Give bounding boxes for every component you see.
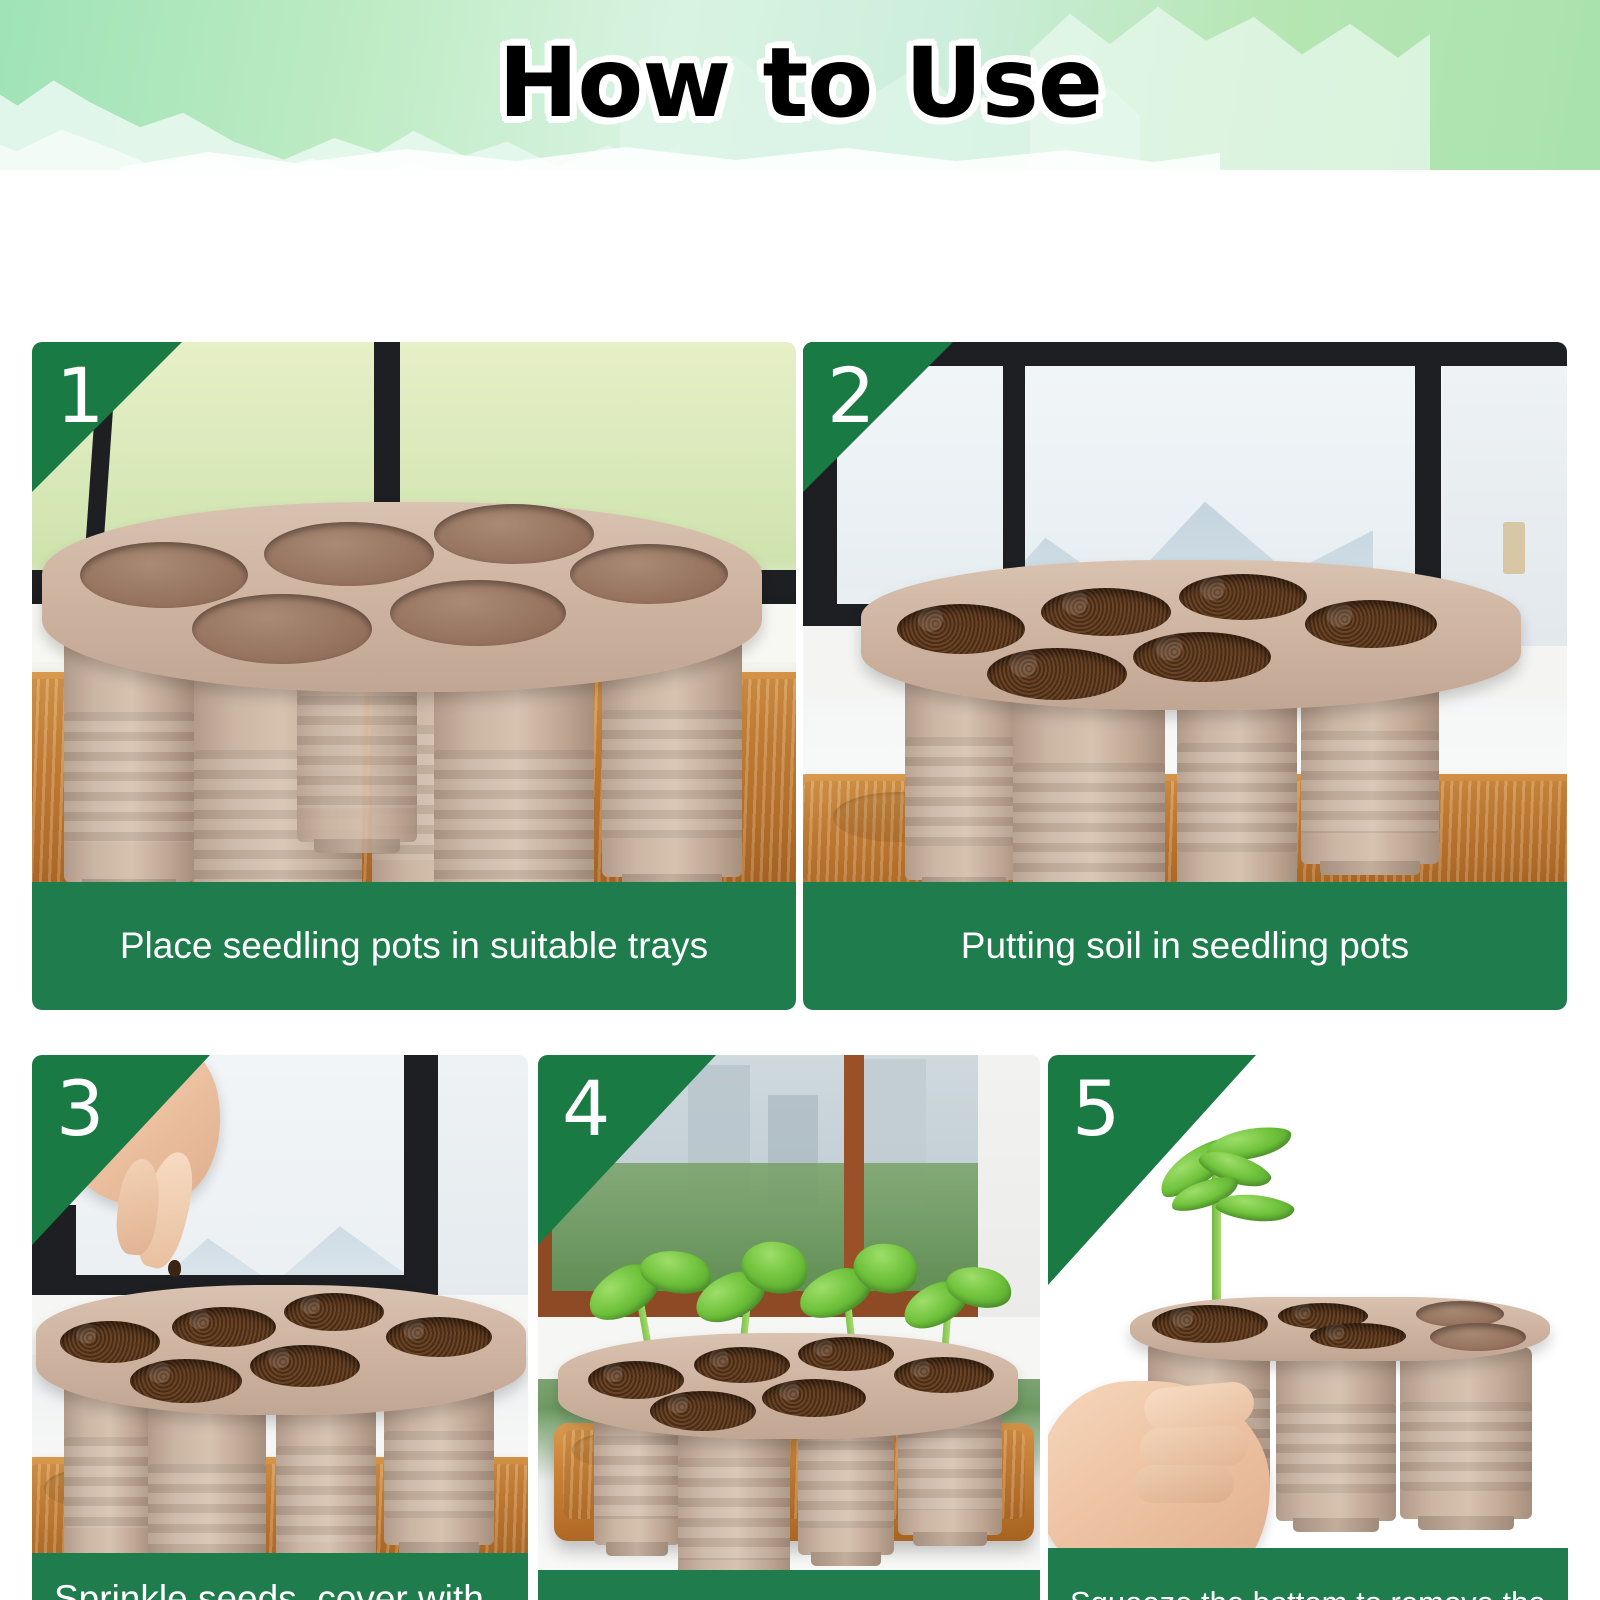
tray-hole-soil-4	[650, 1391, 756, 1431]
scene-empty-tray	[32, 342, 796, 882]
step-card-5[interactable]: 5 Squeeze the bottom to remove the seeds…	[1048, 1055, 1568, 1600]
step-caption-3: Sprinkle seeds, cover with soil, add the…	[32, 1553, 528, 1600]
step-5-photo: 5	[1048, 1055, 1568, 1575]
step-number-5: 5	[1072, 1071, 1120, 1147]
tray-hole-6	[570, 544, 728, 604]
pot-cup-1	[64, 1381, 152, 1556]
seed	[168, 1260, 181, 1277]
pot-cup-2	[1276, 1349, 1396, 1521]
tray-hole-soil-5	[250, 1345, 360, 1387]
tray-hole-5	[1430, 1323, 1526, 1351]
tray-hole-4	[192, 594, 372, 664]
window-pane-right	[438, 1055, 528, 1305]
step-caption-5: Squeeze the bottom to remove the seeds a…	[1048, 1548, 1568, 1600]
step-caption-1: Place seedling pots in suitable trays	[32, 882, 796, 1010]
window-frame-vertical	[404, 1055, 438, 1300]
step-card-4[interactable]: 4 Waiting for the seeds to grow	[538, 1055, 1040, 1600]
tray-hole-soil-1	[1152, 1305, 1268, 1343]
tray-hole-soil-1	[897, 604, 1025, 654]
tray-hole-soil-4	[987, 648, 1127, 700]
tray-hole-2	[264, 522, 434, 586]
step-4-photo: 4	[538, 1055, 1040, 1575]
pot-cup-4	[434, 662, 594, 882]
silicone-seedling-tray	[36, 1285, 526, 1575]
step-1-photo: 1	[32, 342, 796, 882]
tray-hole-3	[434, 504, 594, 564]
step-card-1[interactable]: 1 Place seedling pots in suitable trays	[32, 342, 796, 1010]
tray-hole-soil-1	[60, 1321, 160, 1363]
step-number-1: 1	[56, 358, 104, 434]
silicone-seedling-tray	[558, 1245, 1018, 1545]
tray-hole-soil-3	[1179, 574, 1307, 620]
finger-2	[1139, 1425, 1248, 1469]
tray-hole-soil-3	[798, 1337, 894, 1371]
page-header-banner: How to Use	[0, 0, 1600, 170]
silicone-seedling-tray	[42, 482, 762, 882]
tray-hole-soil-4	[130, 1359, 242, 1403]
step-card-2[interactable]: 2 Putting soil in seedling pots	[803, 342, 1567, 1010]
pot-cup-3	[1400, 1347, 1532, 1519]
scene-soil-filled-tray	[803, 342, 1567, 882]
tray-hole-5	[390, 580, 566, 646]
tray-hole-soil-3	[284, 1293, 384, 1331]
tray-hole-soil-5	[1133, 632, 1271, 682]
finger-3	[1134, 1465, 1234, 1503]
step-number-3: 3	[56, 1071, 104, 1147]
step-2-photo: 2	[803, 342, 1567, 882]
page-title: How to Use	[0, 27, 1600, 139]
step-number-4: 4	[562, 1071, 610, 1147]
tray-hole-1	[80, 542, 248, 608]
pot-cup-2	[1013, 686, 1165, 882]
silicone-seedling-tray	[861, 560, 1521, 882]
step-caption-4: Waiting for the seeds to grow	[538, 1570, 1040, 1600]
tray-hole-soil-6	[1305, 600, 1437, 648]
tray-hole-soil-3	[1310, 1323, 1406, 1349]
step-number-2: 2	[827, 358, 875, 434]
tray-hole-soil-2	[694, 1347, 790, 1383]
step-card-3[interactable]: 3 Sprinkle seeds, cover with soil, add t…	[32, 1055, 528, 1600]
tray-hole-soil-2	[1041, 588, 1171, 636]
tray-hole-soil-5	[762, 1379, 866, 1417]
steps-grid: 1 Place seedling pots in suitable trays	[0, 170, 1600, 1600]
tray-hole-soil-2	[172, 1307, 276, 1347]
tray-hole-soil-6	[894, 1357, 994, 1393]
pot-cup-2	[148, 1397, 266, 1575]
tray-hole-soil-1	[588, 1361, 684, 1399]
step-caption-2: Putting soil in seedling pots	[803, 882, 1567, 1010]
step-3-photo: 3	[32, 1055, 528, 1575]
tray-hole-soil-6	[386, 1317, 492, 1357]
